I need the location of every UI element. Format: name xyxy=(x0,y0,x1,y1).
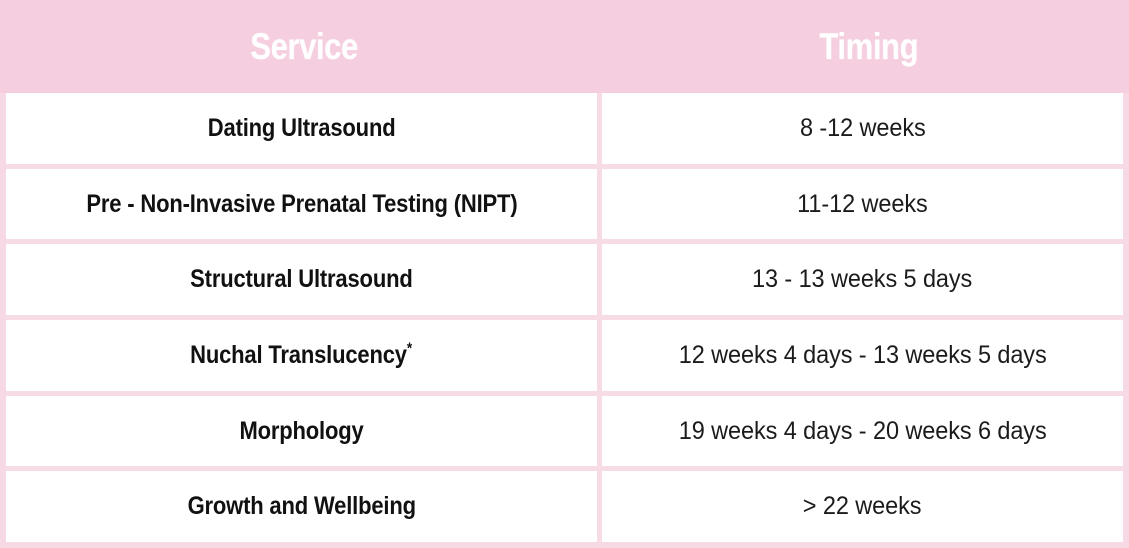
cell-service: Growth and Wellbeing xyxy=(6,471,602,542)
cell-service: Pre - Non-Invasive Prenatal Testing (NIP… xyxy=(6,169,602,240)
timing-value: 11-12 weeks xyxy=(797,190,927,219)
column-header-service: Service xyxy=(0,0,608,93)
column-header-service-label: Service xyxy=(250,26,358,68)
cell-timing: > 22 weeks xyxy=(602,471,1123,542)
service-name: Dating Ultrasound xyxy=(208,114,396,143)
table-row: Pre - Non-Invasive Prenatal Testing (NIP… xyxy=(6,169,1123,245)
service-name: Structural Ultrasound xyxy=(190,265,412,294)
column-header-timing: Timing xyxy=(608,0,1129,93)
table-row: Dating Ultrasound 8 -12 weeks xyxy=(6,93,1123,169)
table-row: Growth and Wellbeing > 22 weeks xyxy=(6,471,1123,542)
cell-service: Structural Ultrasound xyxy=(6,244,602,315)
timing-value: 12 weeks 4 days - 13 weeks 5 days xyxy=(679,341,1047,370)
cell-service: Nuchal Translucency* xyxy=(6,320,602,391)
table-row: Nuchal Translucency* 12 weeks 4 days - 1… xyxy=(6,320,1123,396)
timing-value: 8 -12 weeks xyxy=(800,114,926,143)
table-header-row: Service Timing xyxy=(0,0,1129,93)
cell-timing: 19 weeks 4 days - 20 weeks 6 days xyxy=(602,396,1123,467)
table-body: Dating Ultrasound 8 -12 weeks Pre - Non-… xyxy=(0,93,1129,548)
timing-value: 19 weeks 4 days - 20 weeks 6 days xyxy=(679,417,1047,446)
service-name: Pre - Non-Invasive Prenatal Testing (NIP… xyxy=(86,190,517,219)
service-timing-table: Service Timing Dating Ultrasound 8 -12 w… xyxy=(0,0,1129,548)
service-name: Morphology xyxy=(239,417,363,446)
table-row: Morphology 19 weeks 4 days - 20 weeks 6 … xyxy=(6,396,1123,472)
cell-timing: 11-12 weeks xyxy=(602,169,1123,240)
cell-timing: 12 weeks 4 days - 13 weeks 5 days xyxy=(602,320,1123,391)
timing-value: 13 - 13 weeks 5 days xyxy=(752,265,972,294)
service-name: Growth and Wellbeing xyxy=(187,492,415,521)
timing-value: > 22 weeks xyxy=(803,492,922,521)
table-row: Structural Ultrasound 13 - 13 weeks 5 da… xyxy=(6,244,1123,320)
cell-service: Morphology xyxy=(6,396,602,467)
cell-timing: 13 - 13 weeks 5 days xyxy=(602,244,1123,315)
cell-service: Dating Ultrasound xyxy=(6,93,602,164)
column-header-timing-label: Timing xyxy=(819,26,918,68)
service-marker: * xyxy=(407,341,412,358)
service-name: Nuchal Translucency* xyxy=(191,341,413,370)
cell-timing: 8 -12 weeks xyxy=(602,93,1123,164)
